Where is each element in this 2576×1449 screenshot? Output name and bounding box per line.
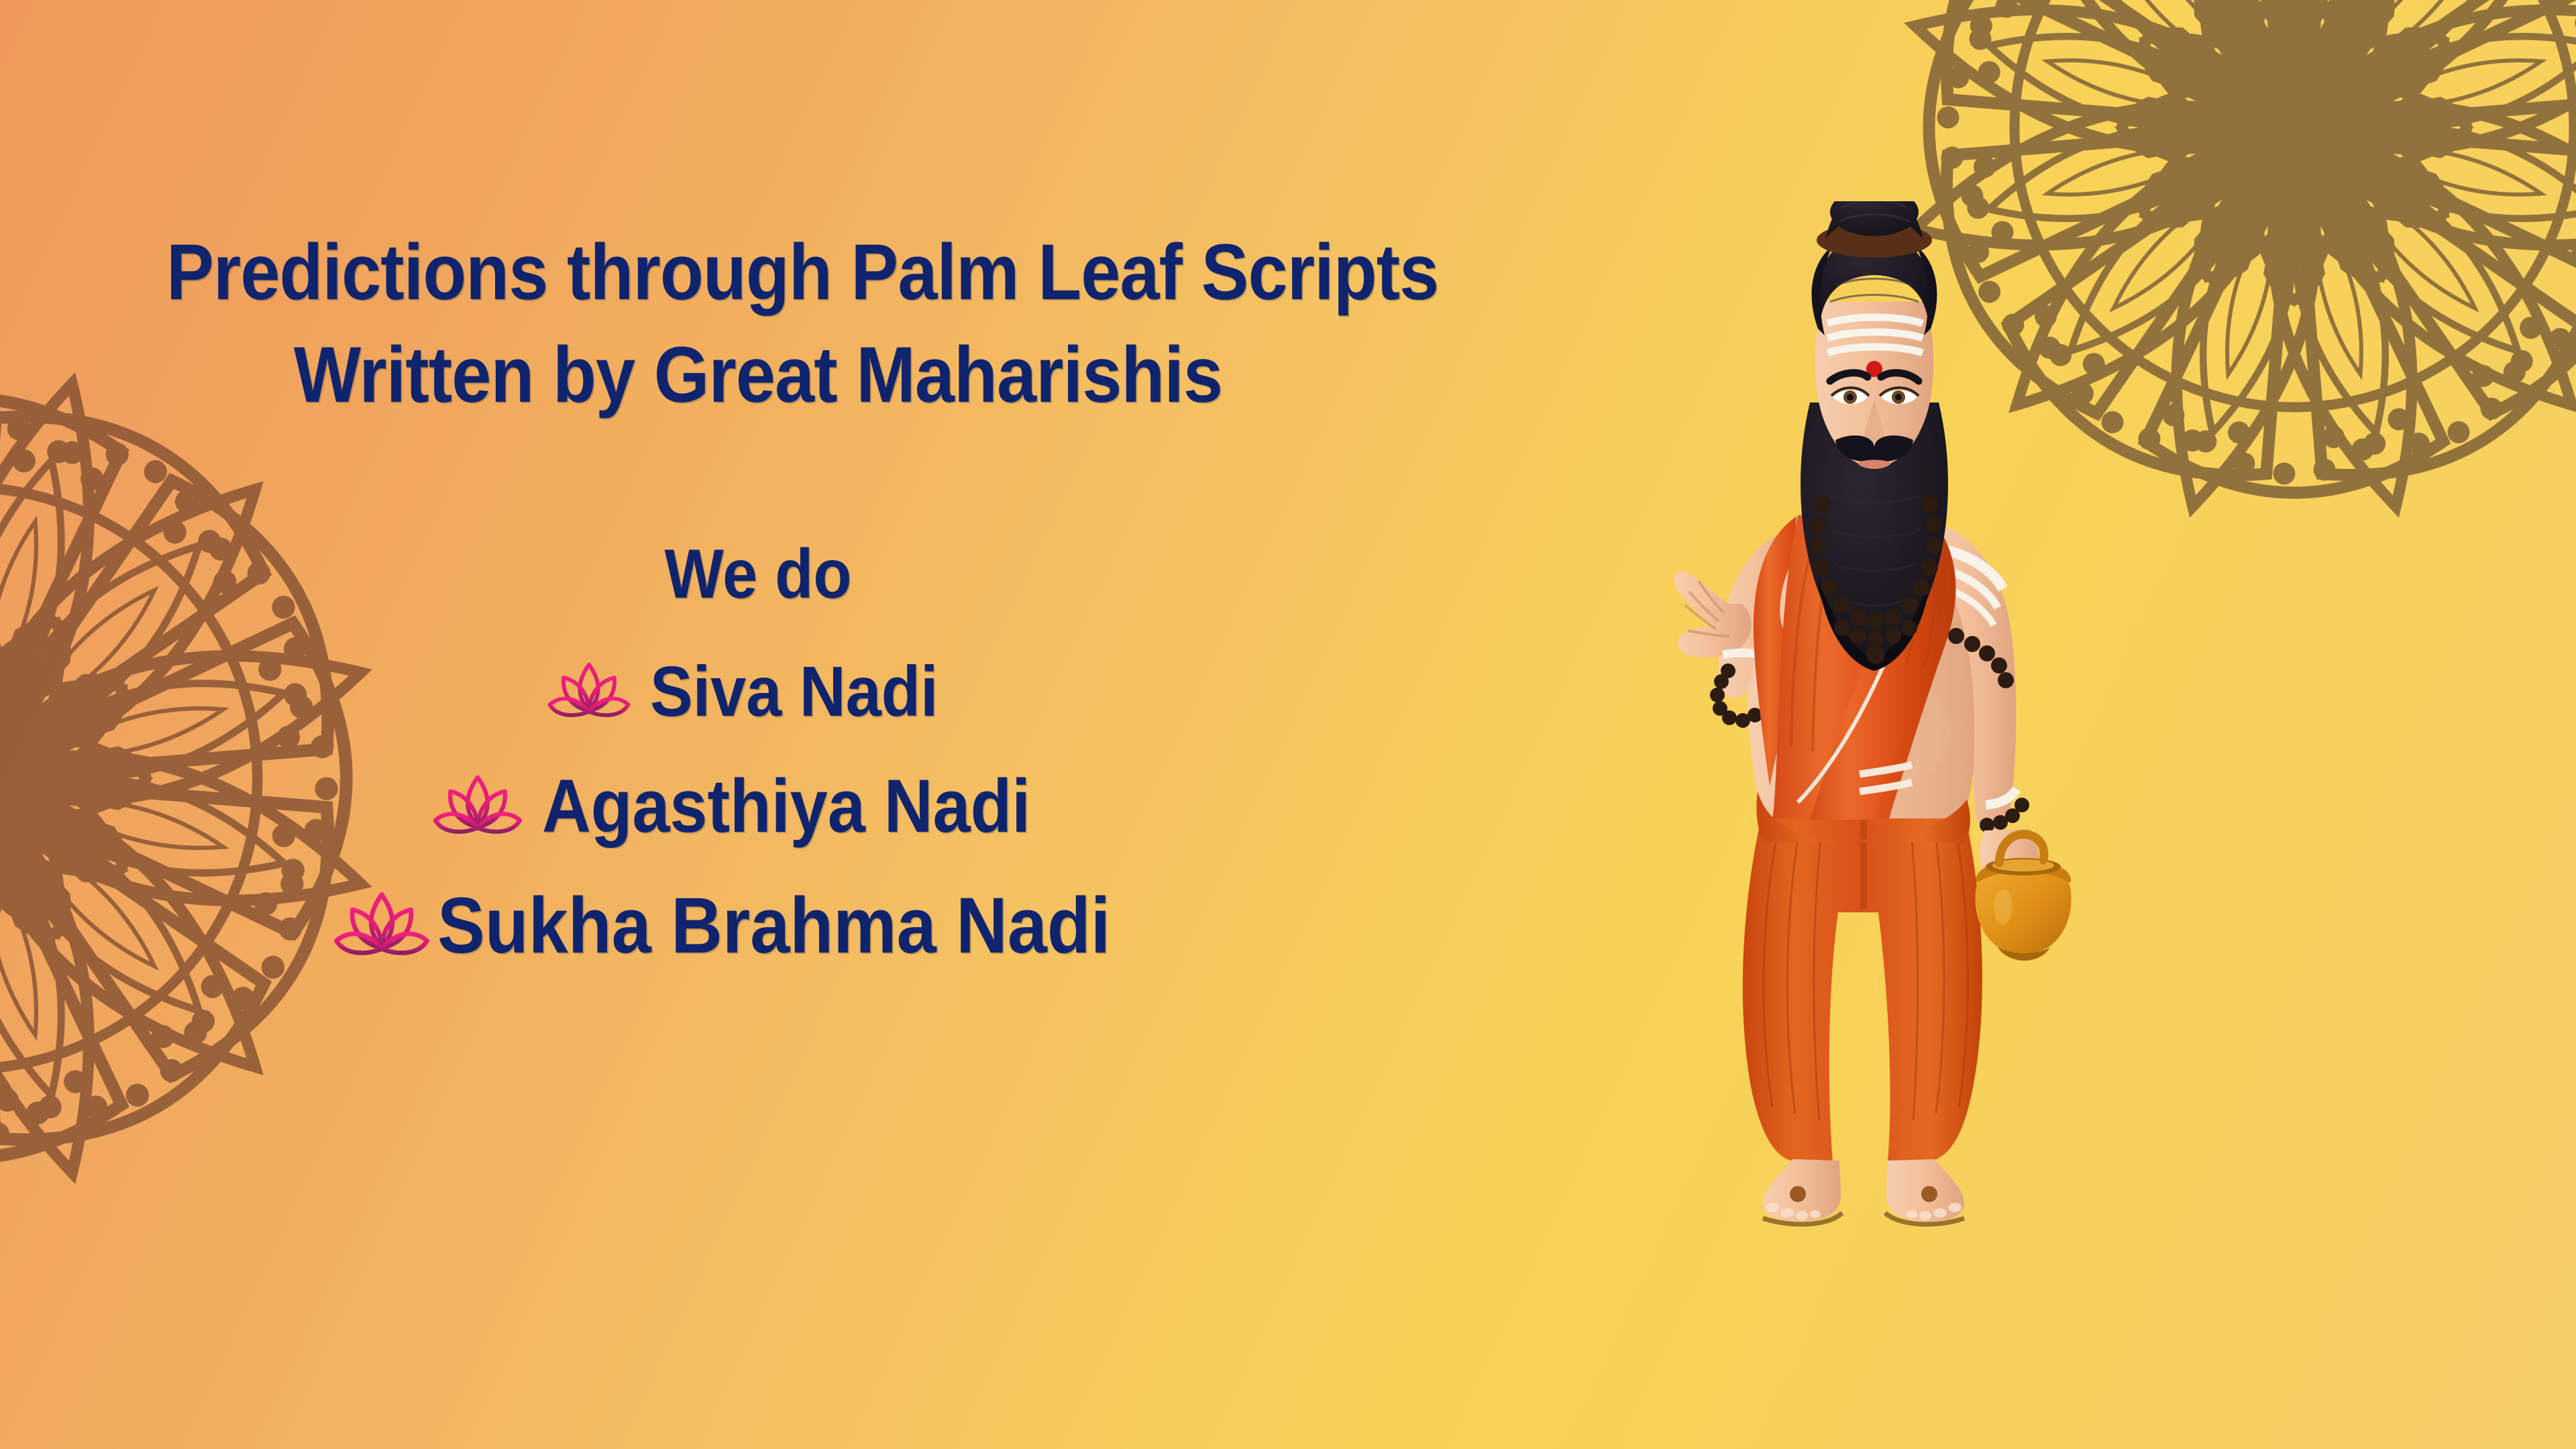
service-label: Sukha Brahma Nadi xyxy=(437,886,1110,965)
we-do-label: We do xyxy=(166,535,1350,614)
service-label: Siva Nadi xyxy=(650,656,938,727)
list-item: Siva Nadi xyxy=(101,656,1415,727)
service-label: Agasthiya Nadi xyxy=(542,769,1030,844)
sage-agasthya-illustration xyxy=(1597,201,2147,1275)
lotus-icon xyxy=(331,885,432,966)
headline-line-1: Predictions through Palm Leaf Scripts xyxy=(166,221,1350,324)
headline-line-2: Written by Great Maharishis xyxy=(166,324,1350,427)
banner-canvas: Predictions through Palm Leaf Scripts Wr… xyxy=(0,0,2576,1449)
list-item: Sukha Brahma Nadi xyxy=(101,885,1415,966)
lotus-icon xyxy=(545,657,633,727)
banner-text-block: Predictions through Palm Leaf Scripts Wr… xyxy=(101,221,1415,966)
list-item: Agasthiya Nadi xyxy=(101,769,1415,844)
services-list: Siva Nadi xyxy=(101,656,1415,966)
lotus-icon xyxy=(431,769,525,844)
